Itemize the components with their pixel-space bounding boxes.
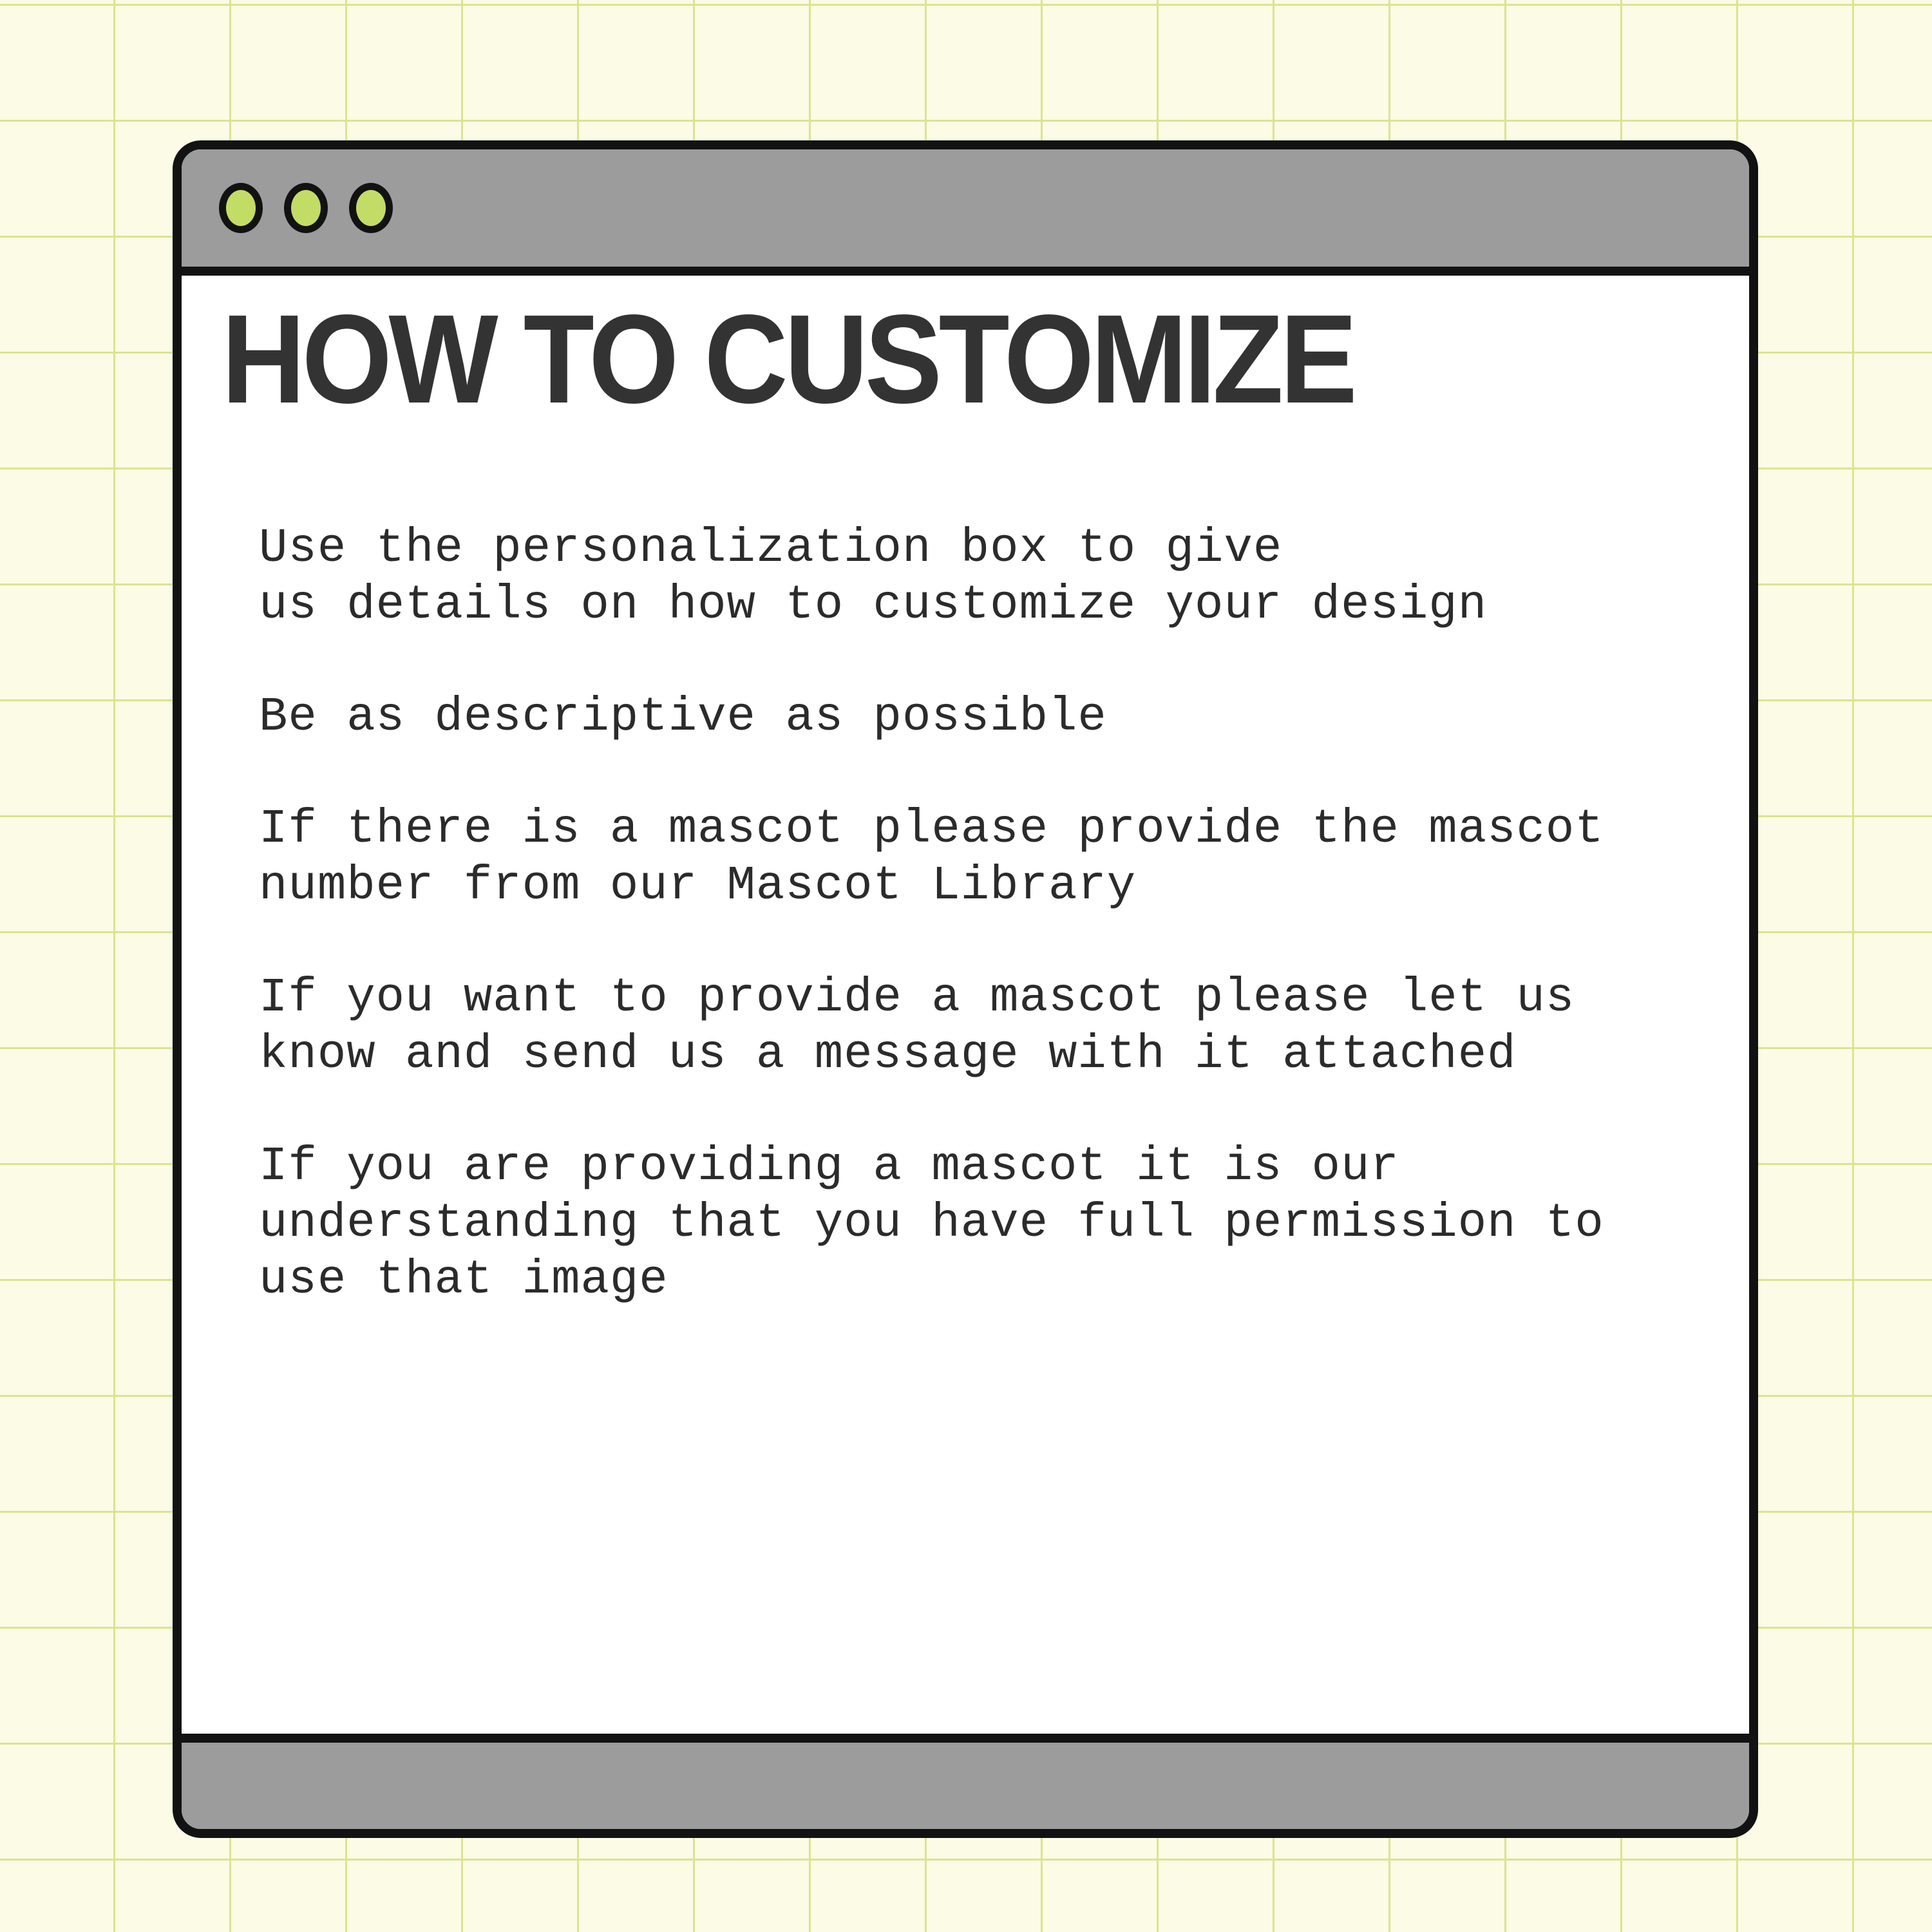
- instruction-paragraph: If you want to provide a mascot please l…: [259, 970, 1723, 1083]
- instruction-paragraph: If there is a mascot please provide the …: [259, 801, 1723, 914]
- maximize-dot-icon[interactable]: [349, 183, 393, 233]
- close-dot-icon[interactable]: [219, 183, 263, 233]
- window-title-bar: [182, 149, 1749, 276]
- app-window: HOW TO CUSTOMIZE Use the personalization…: [173, 140, 1758, 1838]
- window-content: HOW TO CUSTOMIZE Use the personalization…: [182, 276, 1749, 1734]
- page-title: HOW TO CUSTOMIZE: [222, 296, 1354, 422]
- instruction-paragraph: Be as descriptive as possible: [259, 689, 1723, 746]
- window-bottom-bar: [182, 1734, 1749, 1829]
- instruction-paragraph: If you are providing a mascot it is our …: [259, 1139, 1723, 1309]
- page-background: HOW TO CUSTOMIZE Use the personalization…: [0, 0, 1932, 1932]
- minimize-dot-icon[interactable]: [284, 183, 328, 233]
- instructions-list: Use the personalization box to give us d…: [259, 520, 1723, 1309]
- instruction-paragraph: Use the personalization box to give us d…: [259, 520, 1723, 634]
